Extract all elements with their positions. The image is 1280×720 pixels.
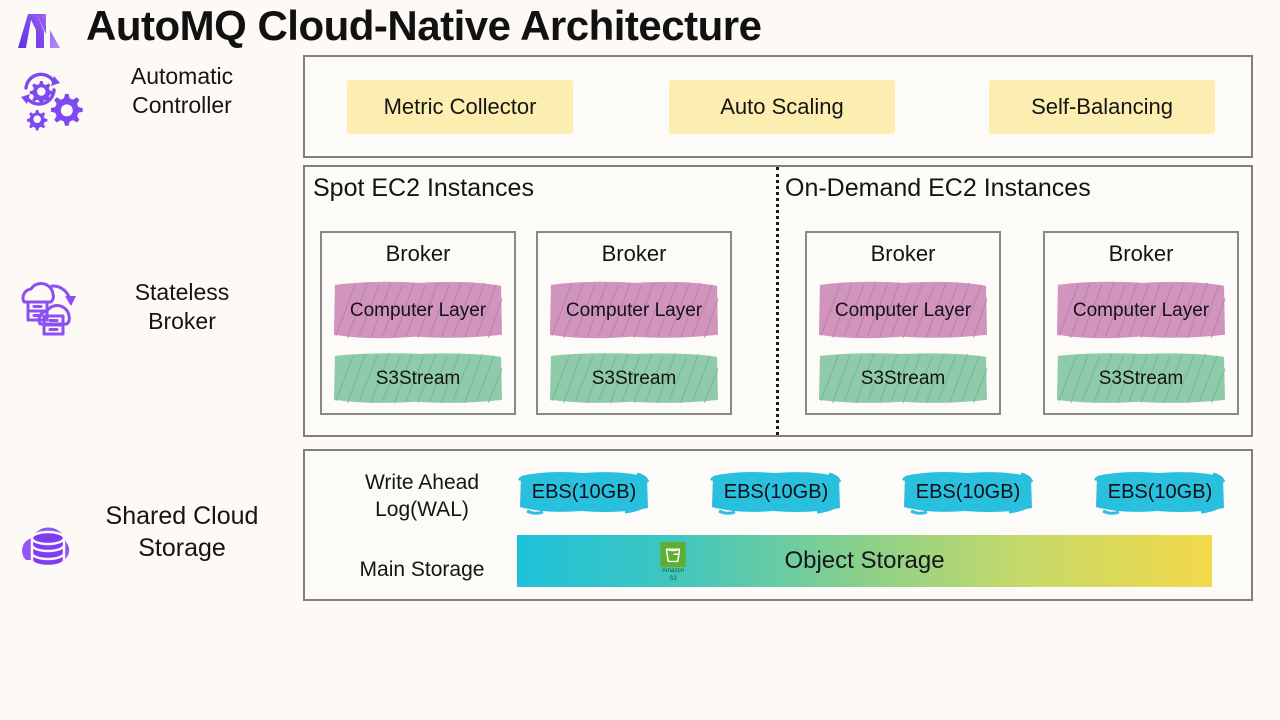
broker-layer-s3stream[interactable]: S3Stream (332, 351, 504, 407)
rail-label-line2: Controller (92, 91, 272, 120)
group-label-on-demand-ec2: On-Demand EC2 Instances (785, 174, 1091, 203)
broker-title: Broker (538, 241, 730, 267)
layer-label: S3Stream (1099, 368, 1183, 390)
note-label: Self-Balancing (1031, 94, 1173, 120)
layer-label: S3Stream (592, 368, 676, 390)
stateless-broker-panel: Spot EC2 Instances On-Demand EC2 Instanc… (303, 165, 1253, 437)
automatic-controller-panel: Metric Collector Auto Scaling Self-Balan… (303, 55, 1253, 158)
layer-label: S3Stream (376, 368, 460, 390)
cloud-servers-migrate-icon (8, 272, 88, 344)
broker-layer-s3stream[interactable]: S3Stream (1055, 351, 1227, 407)
note-auto-scaling[interactable]: Auto Scaling (669, 80, 895, 134)
ebs-label: EBS(10GB) (916, 481, 1020, 504)
rail-label-line2: Broker (92, 307, 272, 336)
broker-layer-s3stream[interactable]: S3Stream (817, 351, 989, 407)
layer-label: Computer Layer (835, 300, 971, 322)
wal-label-line2: Log(WAL) (327, 496, 517, 523)
broker-layer-computer[interactable]: Computer Layer (817, 279, 989, 343)
ebs-label: EBS(10GB) (1108, 481, 1212, 504)
amazon-s3-badge: Amazon S3 (653, 542, 693, 582)
broker-card[interactable]: Broker Computer Layer S3Stream (320, 231, 516, 415)
broker-title: Broker (1045, 241, 1237, 267)
broker-layer-s3stream[interactable]: S3Stream (548, 351, 720, 407)
broker-layer-computer[interactable]: Computer Layer (332, 279, 504, 343)
s3-badge-service: S3 (669, 576, 676, 582)
layer-label: Computer Layer (566, 300, 702, 322)
wal-label-line1: Write Ahead (327, 469, 517, 496)
object-storage-label: Object Storage (784, 547, 944, 575)
ebs-volume[interactable]: EBS(10GB) (709, 468, 843, 516)
ebs-label: EBS(10GB) (532, 481, 636, 504)
page-title: AutoMQ Cloud-Native Architecture (86, 2, 761, 50)
rail-label-shared-cloud-storage: Shared Cloud Storage (76, 500, 288, 564)
broker-title: Broker (322, 241, 514, 267)
broker-card[interactable]: Broker Computer Layer S3Stream (1043, 231, 1239, 415)
architecture-diagram: AutoMQ Cloud-Native Architecture Automat… (0, 0, 1280, 720)
ebs-volume[interactable]: EBS(10GB) (901, 468, 1035, 516)
rail-label-automatic-controller: Automatic Controller (92, 62, 272, 121)
layer-label: Computer Layer (1073, 300, 1209, 322)
amazon-s3-bucket-icon (659, 542, 687, 567)
main-storage-label: Main Storage (327, 556, 517, 583)
shared-cloud-storage-panel: Write Ahead Log(WAL) EBS(10GB) EBS(10GB)… (303, 449, 1253, 601)
layer-label: S3Stream (861, 368, 945, 390)
broker-layer-computer[interactable]: Computer Layer (1055, 279, 1227, 343)
ebs-volume[interactable]: EBS(10GB) (517, 468, 651, 516)
rail-label-line1: Stateless (92, 278, 272, 307)
group-label-spot-ec2: Spot EC2 Instances (313, 174, 534, 203)
rail-label-line1: Automatic (92, 62, 272, 91)
note-metric-collector[interactable]: Metric Collector (347, 80, 573, 134)
ebs-label: EBS(10GB) (724, 481, 828, 504)
rail-label-line1: Shared Cloud (76, 500, 288, 532)
broker-layer-computer[interactable]: Computer Layer (548, 279, 720, 343)
s3-badge-provider: Amazon (662, 568, 684, 574)
ec2-group-divider (776, 167, 779, 435)
object-storage-bar[interactable]: Amazon S3 Object Storage (517, 535, 1212, 587)
gears-refresh-icon (10, 62, 90, 134)
note-self-balancing[interactable]: Self-Balancing (989, 80, 1215, 134)
rail-label-line2: Storage (76, 532, 288, 564)
ebs-volume[interactable]: EBS(10GB) (1093, 468, 1227, 516)
layer-label: Computer Layer (350, 300, 486, 322)
broker-card[interactable]: Broker Computer Layer S3Stream (536, 231, 732, 415)
broker-card[interactable]: Broker Computer Layer S3Stream (805, 231, 1001, 415)
broker-title: Broker (807, 241, 999, 267)
automq-logo (10, 8, 66, 52)
note-label: Auto Scaling (720, 94, 844, 120)
wal-label: Write Ahead Log(WAL) (327, 469, 517, 524)
note-label: Metric Collector (384, 94, 537, 120)
rail-label-stateless-broker: Stateless Broker (92, 278, 272, 337)
